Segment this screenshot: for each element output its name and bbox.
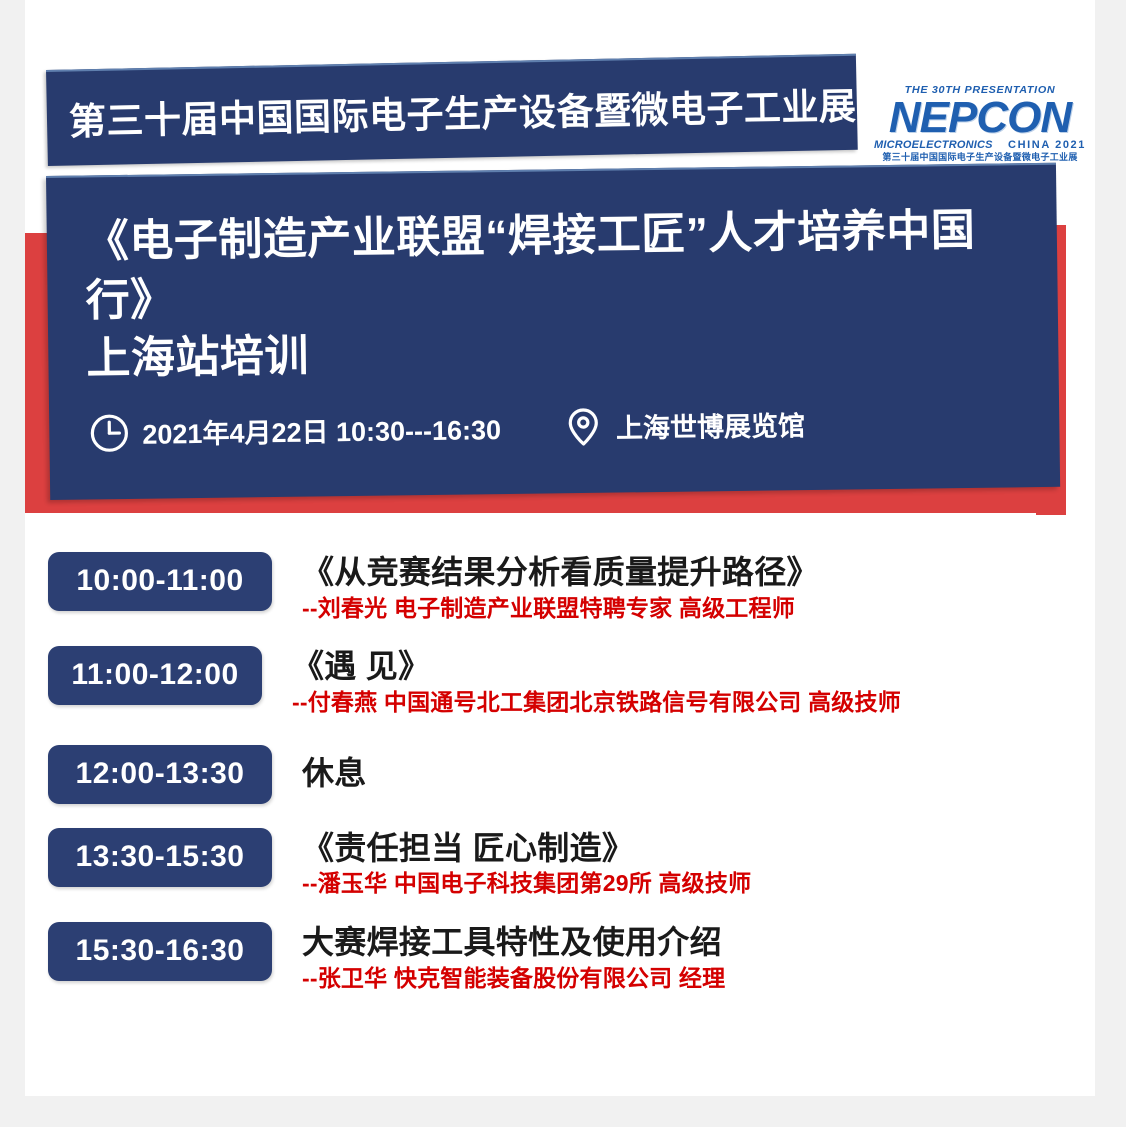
- schedule-speaker: --刘春光 电子制造产业联盟特聘专家 高级工程师: [302, 595, 1126, 623]
- schedule-row: 11:00-12:00 《遇 见》 --付春燕 中国通号北工集团北京铁路信号有限…: [0, 646, 1126, 716]
- schedule-topic: 《遇 见》: [292, 648, 1126, 686]
- schedule-topic: 《从竞赛结果分析看质量提升路径》: [302, 554, 1126, 592]
- event-venue: 上海世博展览馆: [561, 402, 806, 449]
- event-venue-text: 上海世博展览馆: [616, 404, 805, 445]
- event-title-line2: 上海站培训: [86, 318, 1039, 389]
- schedule-topic: 大赛焊接工具特性及使用介绍: [302, 924, 1126, 962]
- schedule-speaker: --张卫华 快克智能装备股份有限公司 经理: [302, 965, 1126, 993]
- logo-chinese-subtitle: 第三十届中国国际电子生产设备暨微电子工业展: [872, 153, 1088, 162]
- schedule-time-badge: 12:00-13:30: [48, 745, 272, 804]
- schedule-time-badge: 11:00-12:00: [48, 646, 262, 705]
- schedule-list: 10:00-11:00 《从竞赛结果分析看质量提升路径》 --刘春光 电子制造产…: [0, 552, 1126, 1004]
- schedule-speaker: --潘玉华 中国电子科技集团第29所 高级技师: [302, 870, 1126, 898]
- event-title-panel: 《电子制造产业联盟“焊接工匠”人才培养中国行》 上海站培训 2021年4月22日…: [46, 163, 1060, 500]
- schedule-topic: 《责任担当 匠心制造》: [302, 830, 1126, 868]
- location-pin-icon: [561, 404, 606, 449]
- schedule-time-badge: 15:30-16:30: [48, 922, 272, 981]
- schedule-row: 10:00-11:00 《从竞赛结果分析看质量提升路径》 --刘春光 电子制造产…: [0, 552, 1126, 622]
- event-title-line1: 《电子制造产业联盟“焊接工匠”人才培养中国行》: [84, 201, 1037, 330]
- exhibition-title: 第三十届中国国际电子生产设备暨微电子工业展览会: [68, 74, 931, 145]
- poster-root: 第三十届中国国际电子生产设备暨微电子工业展览会 THE 30TH PRESENT…: [0, 0, 1126, 1127]
- schedule-topic: 休息: [302, 755, 1126, 793]
- exhibition-title-banner: 第三十届中国国际电子生产设备暨微电子工业展览会: [46, 54, 858, 166]
- schedule-row: 12:00-13:30 休息: [0, 741, 1126, 804]
- logo-wordmark: NEPCON: [872, 97, 1088, 139]
- logo-tagline: THE 30TH PRESENTATION: [863, 86, 1096, 96]
- schedule-time-badge: 13:30-15:30: [48, 828, 272, 887]
- nepcon-logo: THE 30TH PRESENTATION NEPCON MICROELECTR…: [872, 86, 1088, 166]
- schedule-time-badge: 10:00-11:00: [48, 552, 272, 611]
- schedule-speaker: --付春燕 中国通号北工集团北京铁路信号有限公司 高级技师: [292, 689, 1126, 717]
- event-datetime: 2021年4月22日 10:30---16:30: [87, 406, 501, 455]
- event-meta: 2021年4月22日 10:30---16:30 上海世博展览馆: [87, 399, 1039, 455]
- event-datetime-text: 2021年4月22日 10:30---16:30: [142, 408, 501, 452]
- clock-icon: [87, 410, 132, 455]
- schedule-row: 15:30-16:30 大赛焊接工具特性及使用介绍 --张卫华 快克智能装备股份…: [0, 922, 1126, 992]
- hero-section: 第三十届中国国际电子生产设备暨微电子工业展览会 THE 30TH PRESENT…: [0, 0, 1126, 540]
- logo-subtitle-left: MICROELECTRONICS: [874, 140, 993, 151]
- schedule-row: 13:30-15:30 《责任担当 匠心制造》 --潘玉华 中国电子科技集团第2…: [0, 828, 1126, 898]
- logo-subtitle-right: CHINA 2021: [1008, 140, 1086, 151]
